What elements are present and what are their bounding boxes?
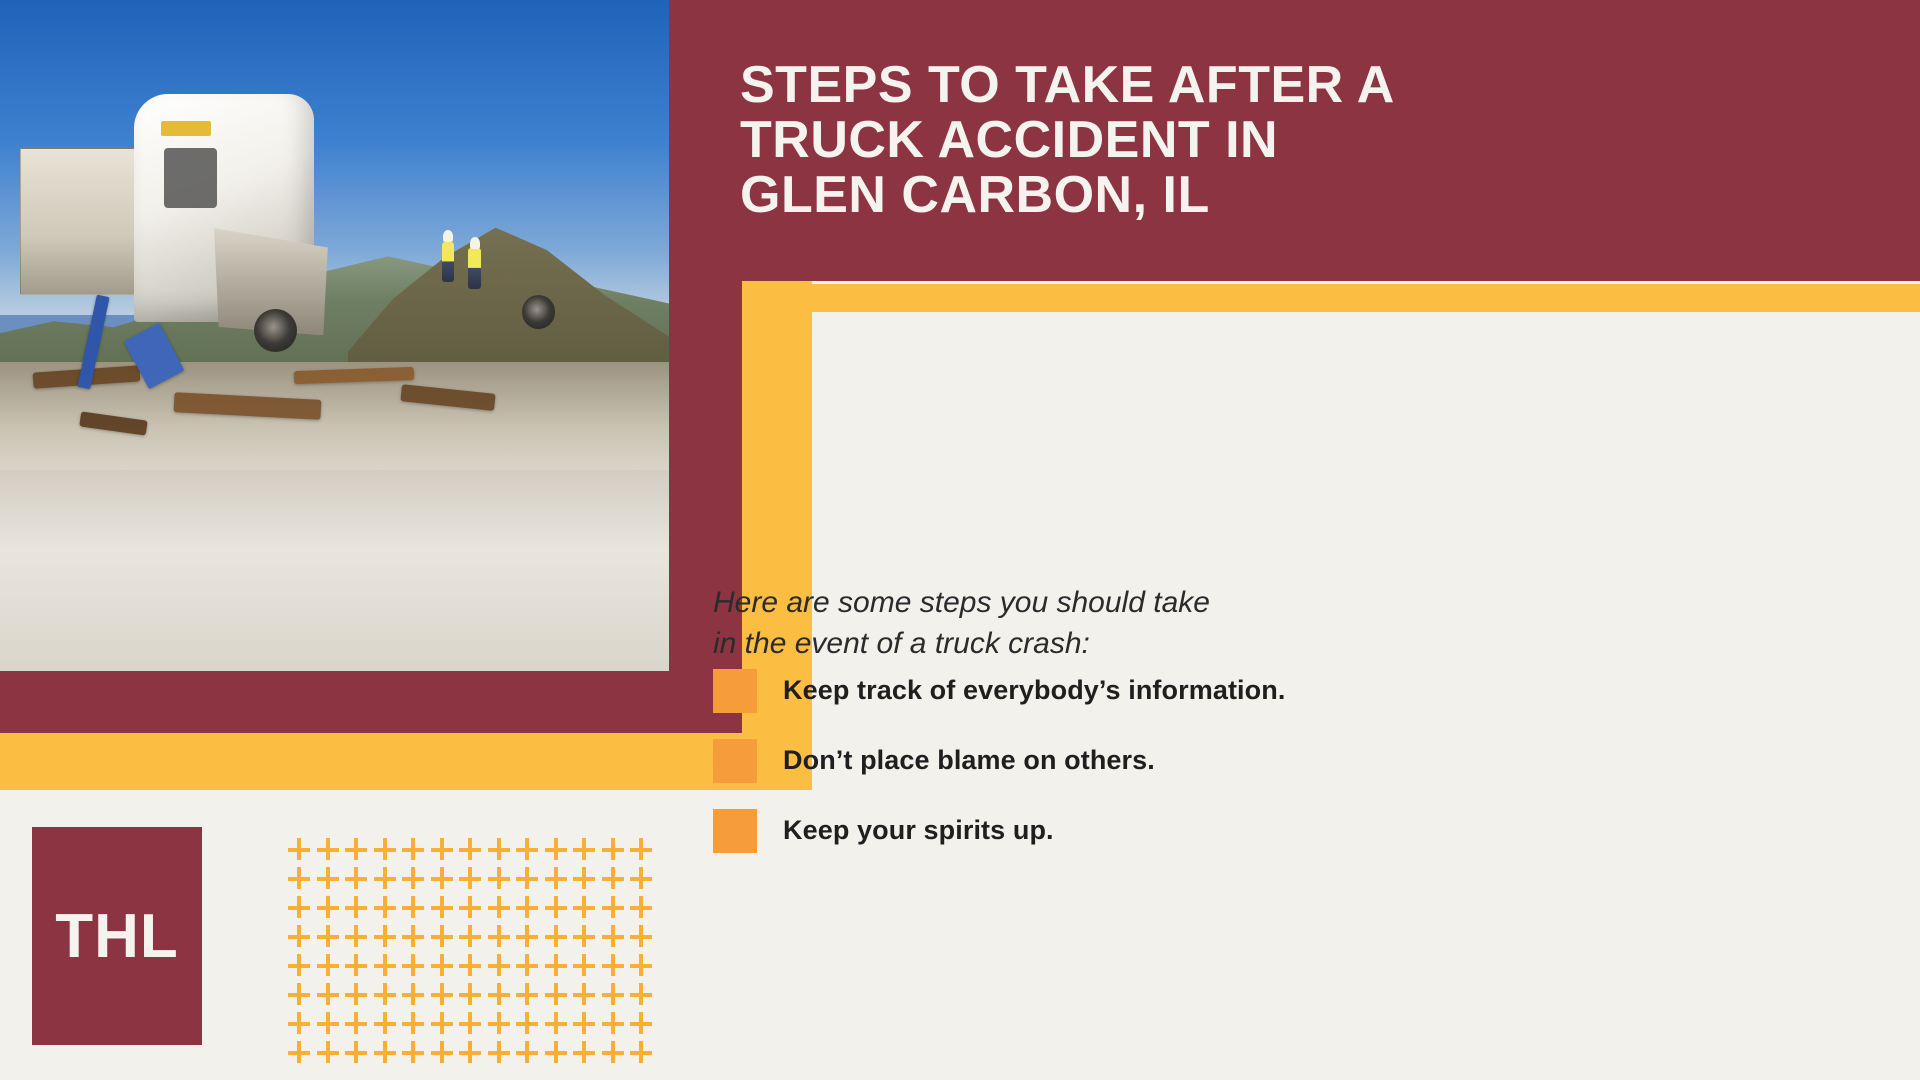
plus-icon xyxy=(456,835,485,864)
plus-icon xyxy=(399,922,428,951)
plus-icon xyxy=(513,1038,542,1067)
plus-icon xyxy=(513,980,542,1009)
plus-icon xyxy=(627,922,655,951)
plus-icon xyxy=(513,951,542,980)
list-item-label: Don’t place blame on others. xyxy=(783,745,1155,776)
plus-icon xyxy=(342,980,371,1009)
plus-icon xyxy=(456,893,485,922)
plus-icon xyxy=(485,980,514,1009)
plus-icon xyxy=(371,980,400,1009)
plus-icon xyxy=(599,864,628,893)
plus-icon xyxy=(542,835,571,864)
plus-icon xyxy=(513,1009,542,1038)
plus-icon xyxy=(342,864,371,893)
truck-accident-photo xyxy=(0,0,669,671)
plus-icon xyxy=(342,1009,371,1038)
plus-icon xyxy=(570,980,599,1009)
logo-text: THL xyxy=(55,901,179,972)
plus-icon xyxy=(399,893,428,922)
plus-icon xyxy=(542,980,571,1009)
plus-icon xyxy=(456,922,485,951)
list-item: Don’t place blame on others. xyxy=(713,730,1713,791)
plus-icon xyxy=(485,1038,514,1067)
plus-icon xyxy=(599,951,628,980)
plus-icon xyxy=(285,1009,314,1038)
plus-icon xyxy=(428,1009,457,1038)
list-item: Keep your spirits up. xyxy=(713,800,1713,861)
plus-icon xyxy=(513,835,542,864)
plus-icon xyxy=(428,951,457,980)
left-composition xyxy=(0,0,812,790)
plus-icon xyxy=(399,1009,428,1038)
plus-icon xyxy=(314,980,343,1009)
plus-icon xyxy=(285,951,314,980)
plus-icon xyxy=(371,922,400,951)
bullet-square-icon xyxy=(713,669,757,713)
plus-icon xyxy=(285,893,314,922)
plus-icon xyxy=(285,835,314,864)
plus-icon xyxy=(428,980,457,1009)
plus-icon xyxy=(456,864,485,893)
plus-icon xyxy=(342,951,371,980)
plus-icon xyxy=(342,835,371,864)
plus-icon xyxy=(485,835,514,864)
plus-icon xyxy=(627,951,655,980)
plus-icon xyxy=(542,951,571,980)
plus-icon xyxy=(399,980,428,1009)
thl-logo: THL xyxy=(32,827,202,1045)
plus-icon xyxy=(371,864,400,893)
plus-icon xyxy=(570,922,599,951)
plus-icon xyxy=(599,922,628,951)
plus-icon xyxy=(399,835,428,864)
plus-icon xyxy=(627,893,655,922)
plus-icon xyxy=(513,864,542,893)
plus-icon xyxy=(428,1038,457,1067)
plus-icon xyxy=(285,864,314,893)
plus-icon xyxy=(485,893,514,922)
plus-icon xyxy=(314,864,343,893)
plus-icon xyxy=(570,1038,599,1067)
plus-icon xyxy=(599,1038,628,1067)
plus-icon xyxy=(599,980,628,1009)
plus-icon xyxy=(570,951,599,980)
plus-icon xyxy=(485,922,514,951)
list-item: Keep track of everybody’s information. xyxy=(713,660,1713,721)
plus-icon xyxy=(542,1038,571,1067)
plus-icon xyxy=(542,1009,571,1038)
plus-icon xyxy=(485,951,514,980)
plus-icon xyxy=(485,864,514,893)
plus-icon xyxy=(342,1038,371,1067)
header-block: STEPS TO TAKE AFTER A TRUCK ACCIDENT IN … xyxy=(712,0,1920,281)
plus-icon xyxy=(428,922,457,951)
plus-icon xyxy=(285,980,314,1009)
plus-icon xyxy=(428,893,457,922)
plus-icon xyxy=(542,922,571,951)
plus-icon xyxy=(314,1009,343,1038)
plus-icon xyxy=(314,893,343,922)
plus-icon xyxy=(456,1009,485,1038)
plus-icon xyxy=(513,922,542,951)
plus-icon xyxy=(570,835,599,864)
plus-icon xyxy=(399,1038,428,1067)
plus-icon xyxy=(570,1009,599,1038)
intro-paragraph: Here are some steps you should take in t… xyxy=(713,582,1433,665)
plus-icon xyxy=(542,864,571,893)
page-title: STEPS TO TAKE AFTER A TRUCK ACCIDENT IN … xyxy=(712,58,1425,223)
plus-icon xyxy=(456,951,485,980)
plus-icon xyxy=(399,864,428,893)
plus-icon xyxy=(314,835,343,864)
header-accent-bar xyxy=(763,284,1920,312)
plus-icon xyxy=(599,835,628,864)
plus-icon xyxy=(627,1038,655,1067)
plus-icon xyxy=(428,864,457,893)
plus-icon xyxy=(342,893,371,922)
plus-icon xyxy=(371,835,400,864)
list-item-label: Keep track of everybody’s information. xyxy=(783,675,1285,706)
plus-icon xyxy=(285,922,314,951)
plus-icon xyxy=(342,922,371,951)
plus-icon xyxy=(485,1009,514,1038)
plus-icon xyxy=(570,864,599,893)
bullet-square-icon xyxy=(713,739,757,783)
plus-icon xyxy=(599,893,628,922)
plus-icon xyxy=(627,835,655,864)
plus-icon xyxy=(627,1009,655,1038)
plus-icon xyxy=(314,922,343,951)
plus-icon xyxy=(371,1038,400,1067)
plus-icon xyxy=(456,1038,485,1067)
plus-icon xyxy=(627,980,655,1009)
plus-icon xyxy=(627,864,655,893)
plus-icon xyxy=(371,893,400,922)
plus-icon xyxy=(371,1009,400,1038)
plus-icon xyxy=(314,1038,343,1067)
plus-icon xyxy=(371,951,400,980)
plus-icon xyxy=(428,835,457,864)
plus-icon xyxy=(456,980,485,1009)
bullet-square-icon xyxy=(713,809,757,853)
plus-icon xyxy=(314,951,343,980)
plus-icon xyxy=(570,893,599,922)
plus-icon xyxy=(285,1038,314,1067)
plus-icon xyxy=(599,1009,628,1038)
plus-pattern-decoration xyxy=(285,835,655,1070)
list-item-label: Keep your spirits up. xyxy=(783,815,1054,846)
plus-icon xyxy=(542,893,571,922)
steps-list: Keep track of everybody’s information. D… xyxy=(713,660,1713,870)
photo-haze-overlay xyxy=(0,0,669,671)
plus-icon xyxy=(399,951,428,980)
plus-icon xyxy=(513,893,542,922)
